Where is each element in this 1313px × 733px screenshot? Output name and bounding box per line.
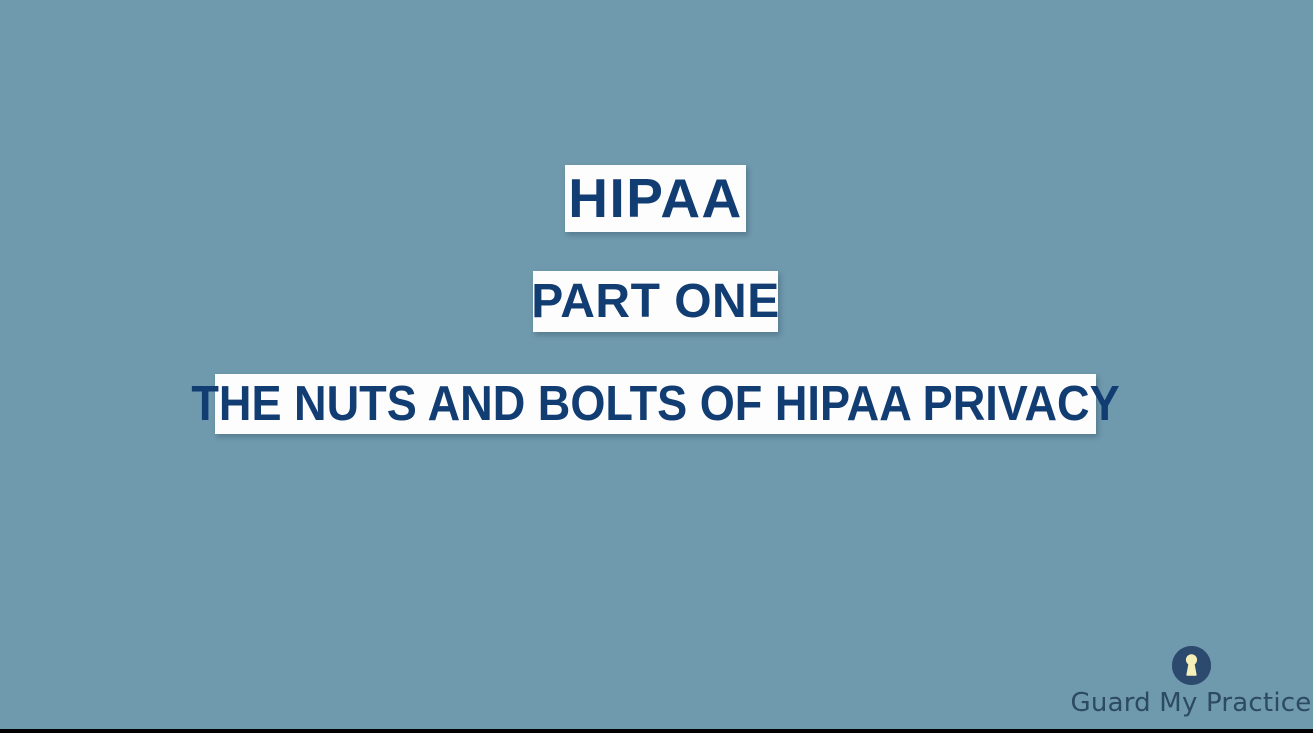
slide-title-part-text: PART ONE (531, 278, 779, 326)
brand-logo: Guard My Practice (1096, 646, 1286, 718)
presentation-slide: HIPAA PART ONE THE NUTS AND BOLTS OF HIP… (0, 0, 1313, 733)
slide-title-primary: HIPAA (565, 165, 746, 232)
slide-title-primary-text: HIPAA (568, 171, 743, 226)
slide-title-part: PART ONE (533, 271, 778, 332)
keyhole-icon (1172, 646, 1211, 685)
slide-title-subtitle: THE NUTS AND BOLTS OF HIPAA PRIVACY (215, 374, 1096, 434)
slide-title-subtitle-text: THE NUTS AND BOLTS OF HIPAA PRIVACY (191, 380, 1119, 429)
letterbox-bar (0, 729, 1313, 733)
brand-name: Guard My Practice (1071, 689, 1312, 718)
title-stack: HIPAA PART ONE THE NUTS AND BOLTS OF HIP… (0, 0, 1313, 733)
